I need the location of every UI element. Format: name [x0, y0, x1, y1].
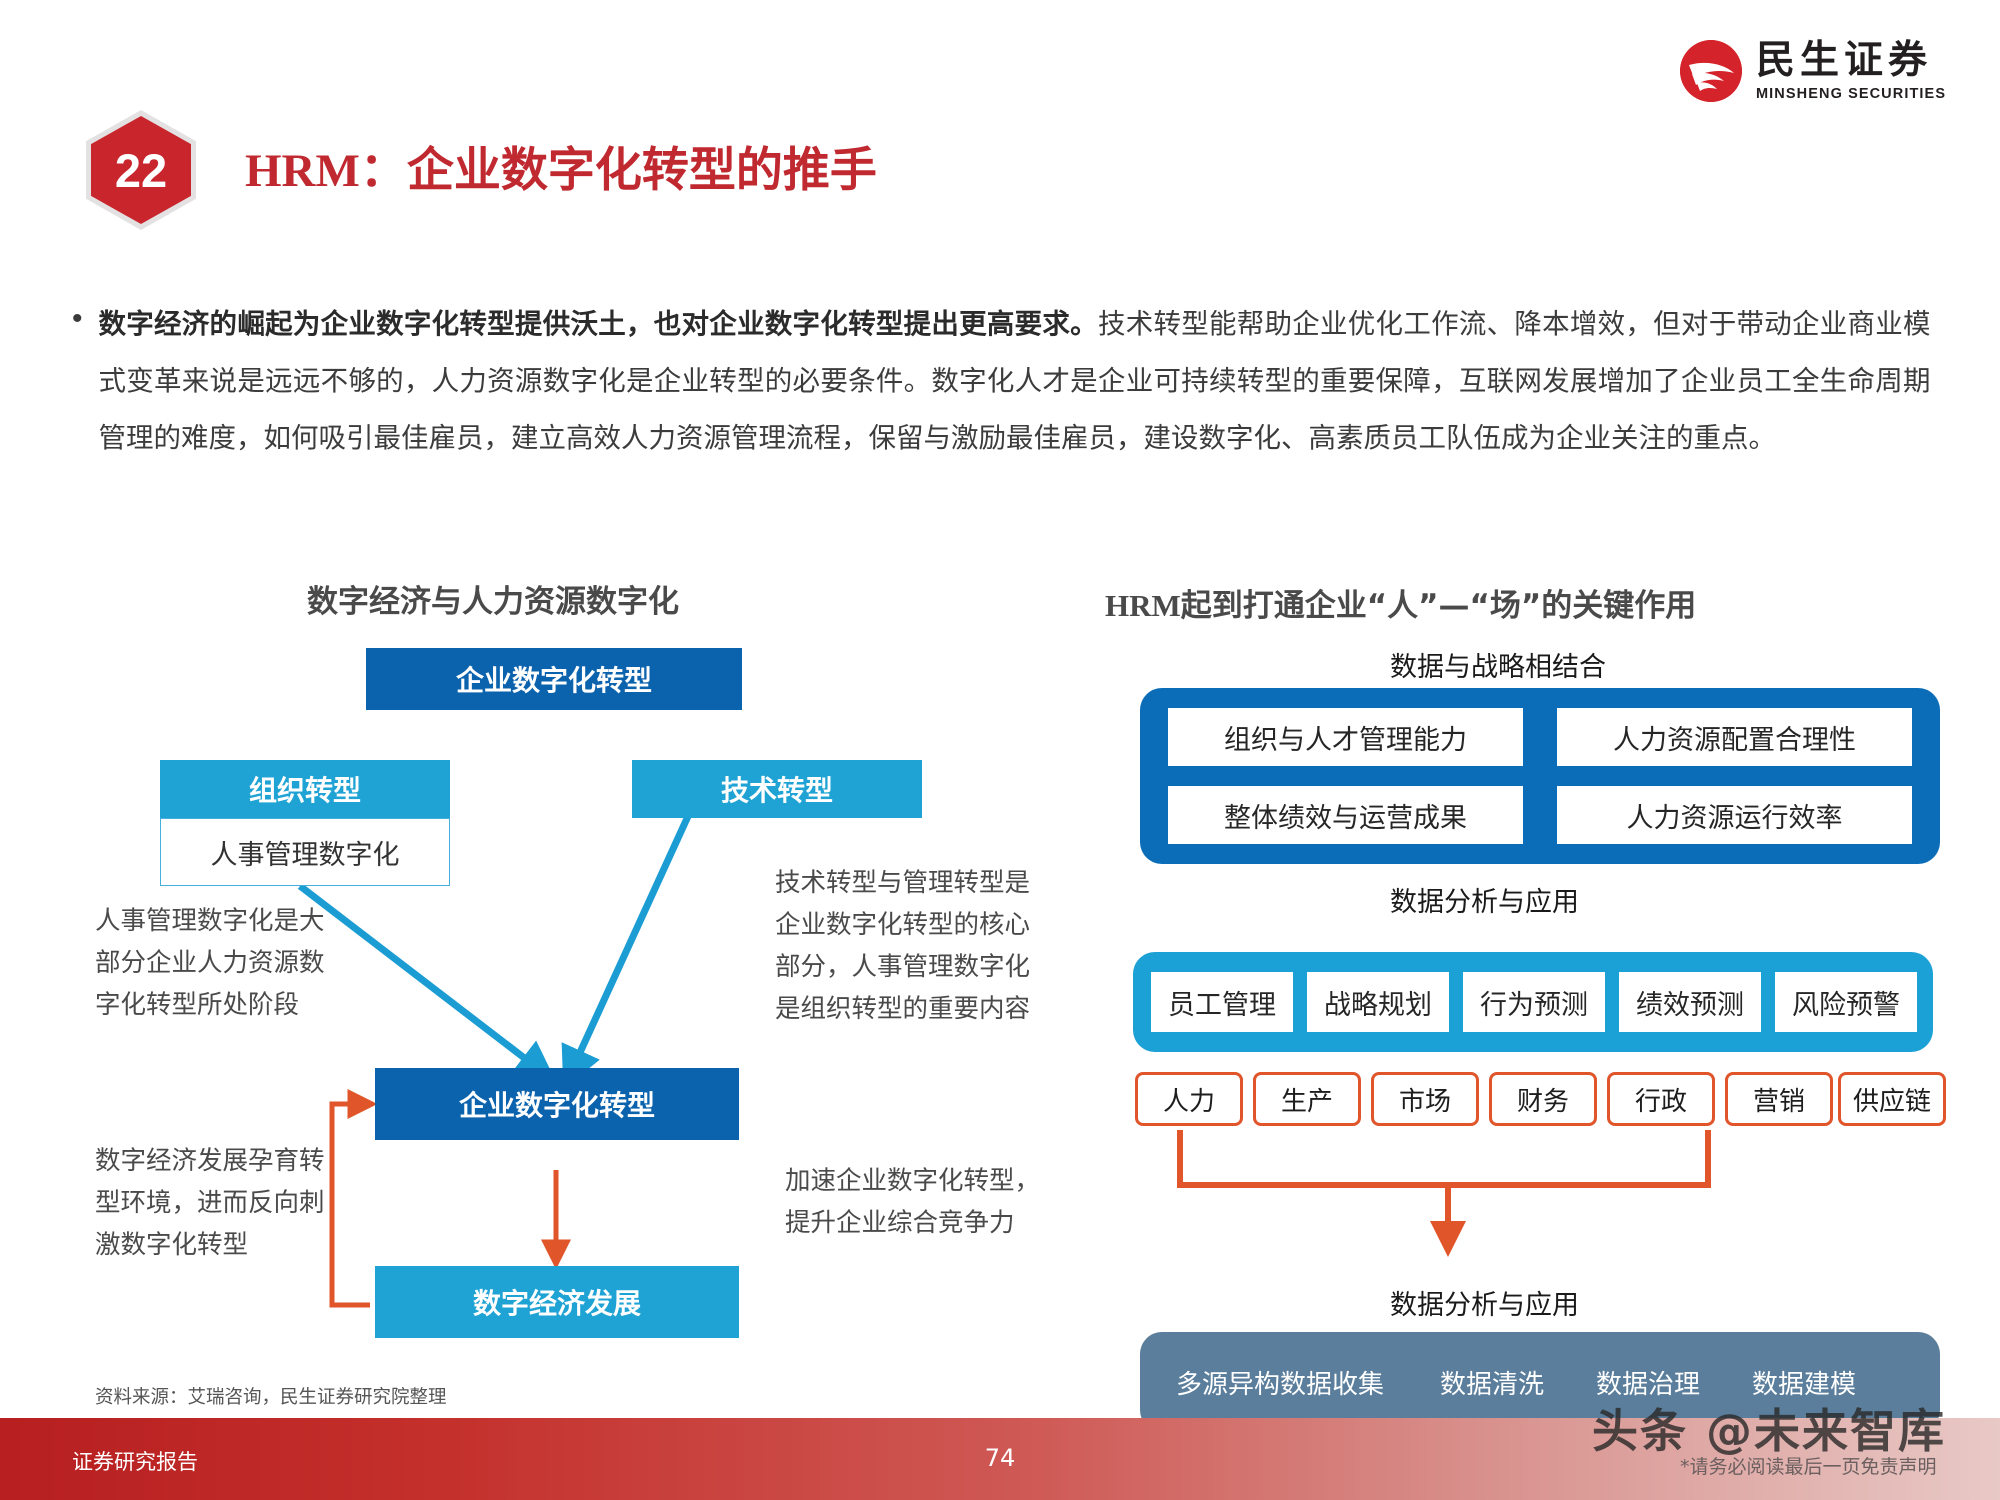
pipeline-cell-0: 多源异构数据收集 — [1176, 1364, 1384, 1401]
domain-chip-3: 财务 — [1489, 1072, 1597, 1126]
left-box-tech: 技术转型 — [632, 760, 922, 818]
analysis-cell-2: 行为预测 — [1463, 972, 1605, 1032]
right-note-top: 技术转型与管理转型是企业数字化转型的核心部分，人事管理数字化是组织转型的重要内容 — [775, 862, 1040, 1030]
domain-chip-1: 生产 — [1253, 1072, 1361, 1126]
strategy-cell-2: 整体绩效与运营成果 — [1168, 786, 1523, 844]
analysis-cell-3: 绩效预测 — [1619, 972, 1761, 1032]
left-box-org-body: 人事管理数字化 — [160, 818, 450, 886]
domain-chip-5: 营销 — [1725, 1072, 1833, 1126]
domain-chip-0: 人力 — [1135, 1072, 1243, 1126]
slide-canvas: 民生证券 MINSHENG SECURITIES 22 HRM：企业数字化转型的… — [0, 0, 2000, 1500]
left-box-org-header: 组织转型 — [160, 760, 450, 818]
left-box-top: 企业数字化转型 — [366, 648, 742, 710]
right-note-bottom: 加速企业数字化转型，提升企业综合竞争力 — [785, 1160, 1040, 1244]
page-title: HRM：企业数字化转型的推手 — [245, 131, 877, 200]
analysis-cell-1: 战略规划 — [1307, 972, 1449, 1032]
left-box-center: 企业数字化转型 — [375, 1068, 739, 1140]
pipeline-cell-1: 数据清洗 — [1440, 1364, 1544, 1401]
source-note: 资料来源：艾瑞咨询，民生证券研究院整理 — [95, 1383, 447, 1409]
summary-paragraph-bold: 数字经济的崛起为企业数字化转型提供沃土，也对企业数字化转型提出更高要求。 — [99, 308, 1098, 340]
right-panel-strategy: 组织与人才管理能力 人力资源配置合理性 整体绩效与运营成果 人力资源运行效率 — [1140, 688, 1940, 864]
strategy-cell-3: 人力资源运行效率 — [1557, 786, 1912, 844]
domain-chip-6: 供应链 — [1838, 1072, 1946, 1126]
right-section3-label: 数据分析与应用 — [1390, 1283, 1579, 1322]
page-title-main: 企业数字化转型的推手 — [407, 143, 877, 198]
domain-chip-4: 行政 — [1607, 1072, 1715, 1126]
bullet-marker: • — [72, 296, 83, 467]
logo-chinese-name: 民生证券 — [1756, 41, 1946, 80]
right-panel-analysis: 员工管理 战略规划 行为预测 绩效预测 风险预警 — [1133, 952, 1933, 1052]
right-section2-label: 数据分析与应用 — [1390, 880, 1579, 919]
left-note-bottom: 数字经济发展孕育转型环境，进而反向刺激数字化转型 — [95, 1140, 335, 1266]
logo-english-name: MINSHENG SECURITIES — [1756, 86, 1946, 102]
right-figure-title: HRM起到打通企业“人”—“场”的关键作用 — [1105, 580, 1696, 625]
badge-number: 22 — [115, 147, 167, 194]
summary-bullet: • 数字经济的崛起为企业数字化转型提供沃土，也对企业数字化转型提出更高要求。技术… — [72, 296, 1952, 467]
left-note-top: 人事管理数字化是大部分企业人力资源数字化转型所处阶段 — [95, 900, 335, 1026]
slide-number-badge: 22 — [86, 110, 196, 230]
company-logo: 民生证券 MINSHENG SECURITIES — [1680, 40, 1946, 102]
left-figure-title: 数字经济与人力资源数字化 — [307, 576, 679, 621]
strategy-cell-1: 人力资源配置合理性 — [1557, 708, 1912, 766]
page-title-prefix: HRM： — [245, 145, 407, 197]
strategy-cell-0: 组织与人才管理能力 — [1168, 708, 1523, 766]
right-section1-label: 数据与战略相结合 — [1390, 645, 1606, 684]
analysis-cell-4: 风险预警 — [1775, 972, 1917, 1032]
footer-disclaimer: *请务必阅读最后一页免责声明 — [1680, 1452, 1937, 1479]
analysis-cell-0: 员工管理 — [1151, 972, 1293, 1032]
domain-chip-2: 市场 — [1371, 1072, 1479, 1126]
right-figure-title-prefix: HRM — [1105, 588, 1181, 623]
logo-swoosh-icon — [1680, 40, 1742, 102]
right-figure-title-main: 起到打通企业“人”—“场”的关键作用 — [1181, 588, 1697, 624]
summary-paragraph: 数字经济的崛起为企业数字化转型提供沃土，也对企业数字化转型提出更高要求。技术转型… — [99, 296, 1931, 467]
left-box-bottom: 数字经济发展 — [375, 1266, 739, 1338]
